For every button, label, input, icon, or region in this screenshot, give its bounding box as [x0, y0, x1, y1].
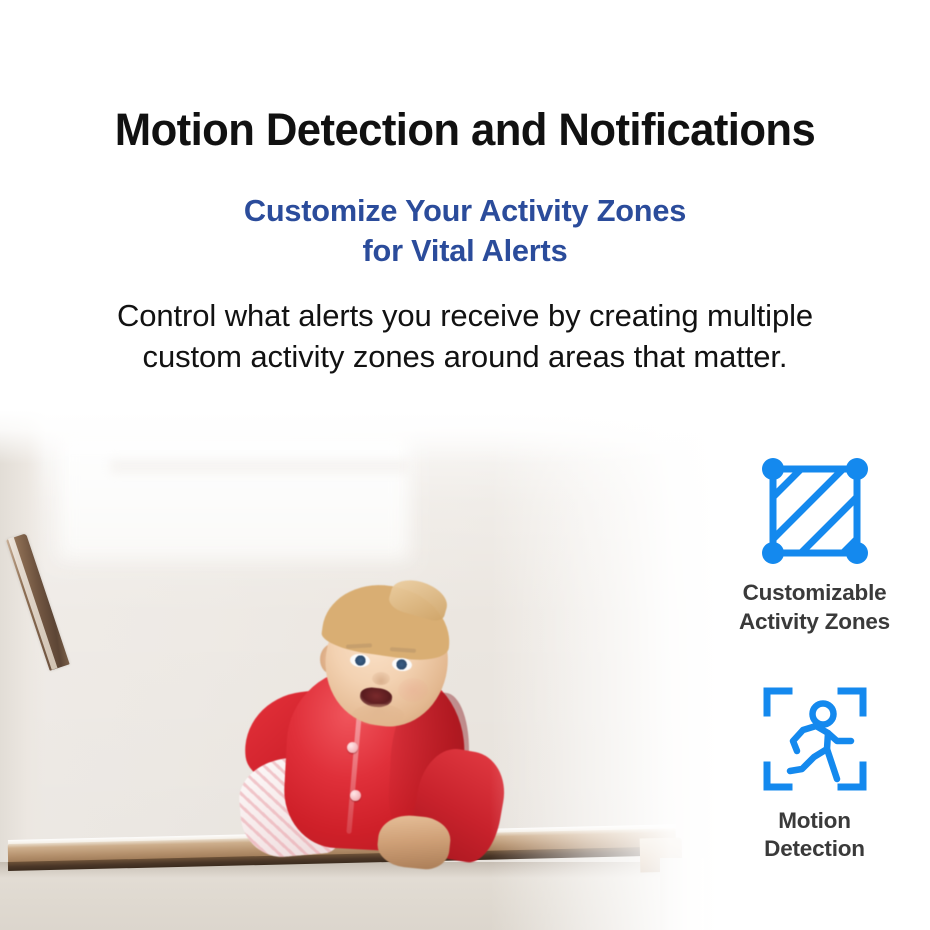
cardigan-button-2 [350, 790, 361, 801]
headline-block: Motion Detection and Notifications Custo… [0, 0, 930, 377]
subtitle: Customize Your Activity Zones for Vital … [5, 191, 926, 270]
feature-label-line-2: Detection [717, 835, 912, 864]
baby-nose [372, 672, 390, 685]
description: Control what alerts you receive by creat… [0, 296, 930, 377]
feature-motion-detection: Motion Detection [717, 683, 912, 865]
baby-figure [240, 600, 490, 860]
baby-cheek [398, 678, 428, 702]
subtitle-line-2: for Vital Alerts [5, 231, 926, 270]
description-line-2: custom activity zones around areas that … [0, 337, 930, 378]
feature-label-line-1: Motion [717, 807, 912, 836]
baby-chin [352, 704, 404, 726]
feature-customizable-activity-zones: Customizable Activity Zones [717, 455, 912, 637]
photo-top-fade [0, 410, 720, 464]
subtitle-line-1: Customize Your Activity Zones [5, 191, 926, 230]
feature-label-line-2: Activity Zones [717, 608, 912, 637]
page-title: Motion Detection and Notifications [14, 106, 916, 153]
photo-right-fade [490, 410, 720, 930]
description-line-1: Control what alerts you receive by creat… [0, 296, 930, 337]
feature-label-activity-zones: Customizable Activity Zones [717, 579, 912, 637]
activity-zone-icon [759, 455, 871, 567]
promo-banner: Motion Detection and Notifications Custo… [0, 0, 930, 930]
cardigan-button-1 [347, 742, 358, 753]
staircase-baby-photo [0, 410, 720, 930]
feature-list: Customizable Activity Zones [717, 455, 912, 864]
feature-label-motion-detection: Motion Detection [717, 807, 912, 865]
motion-person-icon [759, 683, 871, 795]
feature-label-line-1: Customizable [717, 579, 912, 608]
